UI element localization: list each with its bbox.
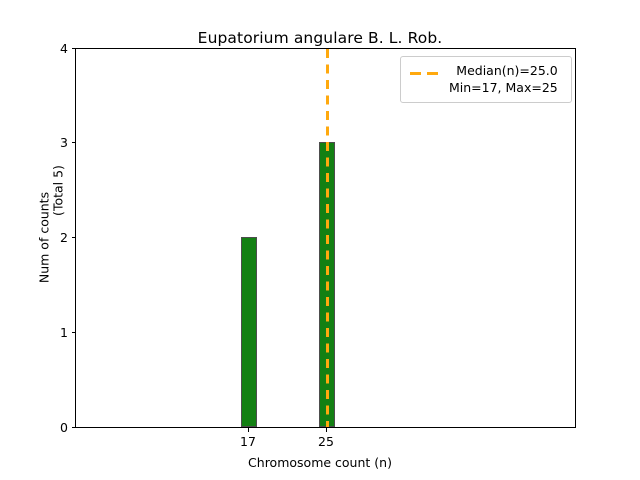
xtick-label-17: 17 <box>240 434 256 449</box>
legend-entry-minmax: Min=17, Max=25 <box>449 80 558 97</box>
xtick-mark-17 <box>248 428 249 432</box>
legend-texts: Median(n)=25.0 Min=17, Max=25 <box>449 63 558 96</box>
y-axis-label-line1: Num of counts <box>37 173 52 303</box>
ytick-label-0: 0 <box>52 420 68 435</box>
legend-entry-median: Median(n)=25.0 <box>456 63 557 80</box>
median-line <box>326 49 329 427</box>
ytick-label-4: 4 <box>52 41 68 56</box>
ytick-label-1: 1 <box>52 325 68 340</box>
chart-title: Eupatorium angulare B. L. Rob. <box>0 29 640 47</box>
legend-dashed-line-icon <box>409 66 441 80</box>
xtick-mark-25 <box>326 428 327 432</box>
xtick-label-25: 25 <box>318 434 334 449</box>
x-axis-label: Chromosome count (n) <box>0 455 640 470</box>
legend: Median(n)=25.0 Min=17, Max=25 <box>400 56 572 103</box>
y-axis-label-line2: (Total 5) <box>51 126 66 256</box>
legend-row: Median(n)=25.0 Min=17, Max=25 <box>409 63 564 96</box>
chart-figure: Eupatorium angulare B. L. Rob. 0 1 2 3 4… <box>0 0 640 480</box>
ytick-mark-0 <box>72 427 76 428</box>
ytick-mark-2 <box>72 237 76 238</box>
median-layer <box>76 49 575 427</box>
ytick-mark-4 <box>72 48 76 49</box>
plot-area <box>75 48 576 428</box>
ytick-mark-3 <box>72 142 76 143</box>
ytick-mark-1 <box>72 332 76 333</box>
